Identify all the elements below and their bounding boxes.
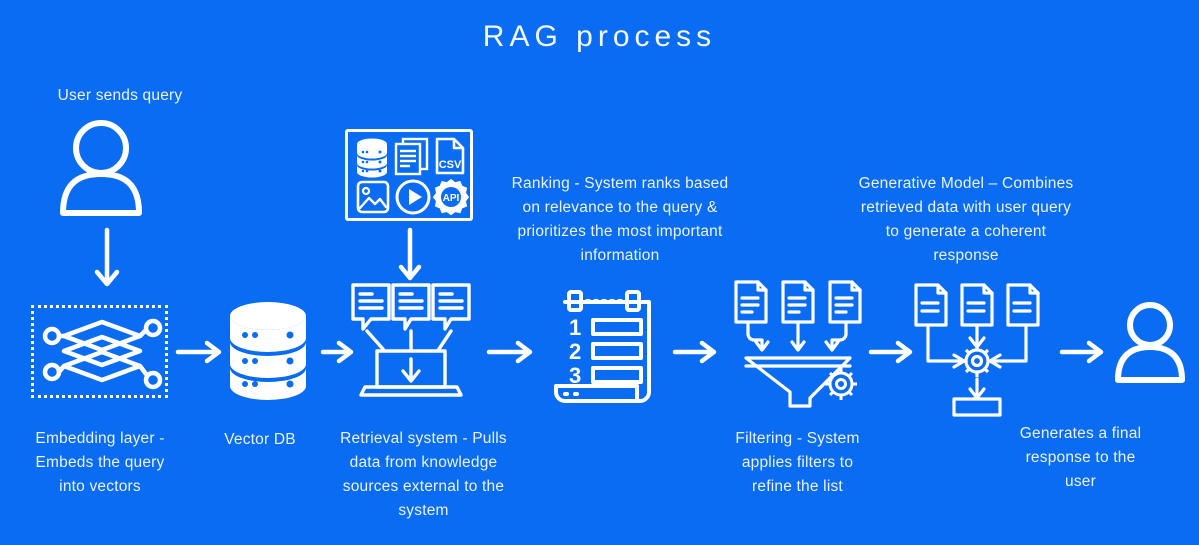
- rank-number: 3: [569, 363, 581, 388]
- api-gear-icon: API: [433, 178, 469, 216]
- caption-line: Retrieval system - Pulls: [326, 427, 521, 451]
- vector-db-caption: Vector DB: [185, 428, 335, 452]
- video-play-icon: [394, 178, 432, 216]
- documents-icon: [394, 137, 429, 175]
- caption-line: user: [993, 470, 1168, 494]
- caption-line: response to the: [993, 446, 1168, 470]
- description-line: to generate a coherent: [833, 220, 1099, 244]
- description-line: retrieved data with user query: [833, 196, 1099, 220]
- caption-line: sources external to the: [326, 475, 521, 499]
- description-line: Ranking - System ranks based: [487, 172, 753, 196]
- embedding-layer-box: [31, 305, 168, 398]
- description-line: on relevance to the query &: [487, 196, 753, 220]
- connector-arrow-sources-to-retrieval: [396, 228, 424, 284]
- filtering-caption: Filtering - System applies filters to re…: [710, 427, 885, 499]
- caption-line: Filtering - System: [710, 427, 885, 451]
- laptop-download-documents-icon: [347, 283, 475, 401]
- caption-line: refine the list: [710, 475, 885, 499]
- image-icon: [356, 180, 390, 214]
- retrieval-system-caption: Retrieval system - Pulls data from knowl…: [326, 427, 521, 523]
- database-cylinder-icon: [228, 300, 308, 402]
- csv-file-icon: CSV: [433, 137, 467, 175]
- funnel-filter-gear-icon: [728, 280, 868, 410]
- connector-arrow-down-user: [92, 228, 122, 290]
- caption-line: system: [326, 499, 521, 523]
- user-icon: [1113, 301, 1187, 383]
- caption-line: Generates a final: [993, 422, 1168, 446]
- description-line: response: [833, 244, 1099, 268]
- description-line: information: [487, 244, 753, 268]
- connector-arrow-embedding-to-vectordb: [176, 340, 224, 364]
- caption-line: Embeds the query: [0, 451, 200, 475]
- embedding-layer-caption: Embedding layer - Embeds the query into …: [0, 427, 200, 499]
- generative-model-description: Generative Model – Combines retrieved da…: [833, 172, 1099, 268]
- connector-arrow-generative-to-user: [1060, 340, 1106, 364]
- caption-line: Embedding layer -: [0, 427, 200, 451]
- api-label: API: [443, 193, 460, 204]
- description-line: Generative Model – Combines: [833, 172, 1099, 196]
- page-title: RAG process: [0, 14, 1199, 61]
- connector-arrow-ranking-to-filtering: [673, 340, 719, 364]
- rank-number: 2: [569, 339, 581, 364]
- description-line: prioritizes the most important: [487, 220, 753, 244]
- caption-line: data from knowledge: [326, 451, 521, 475]
- caption-line: into vectors: [0, 475, 200, 499]
- connector-arrow-retrieval-to-ranking: [487, 340, 535, 364]
- documents-gear-output-icon: [908, 283, 1046, 415]
- user-icon: [55, 118, 147, 216]
- final-user-caption: Generates a final response to the user: [993, 422, 1168, 494]
- csv-label: CSV: [439, 159, 462, 171]
- database-icon: [356, 138, 388, 174]
- caption-line: applies filters to: [710, 451, 885, 475]
- user-query-label: User sends query: [20, 84, 220, 108]
- ranking-description: Ranking - System ranks based on relevanc…: [487, 172, 753, 268]
- neural-network-layers-icon: [40, 314, 165, 395]
- knowledge-sources-box: CSV API: [345, 129, 473, 221]
- rank-number: 1: [569, 315, 581, 340]
- ranked-list-icon: 1 2 3: [553, 288, 661, 410]
- diagram-canvas: RAG process User sends query: [0, 0, 1199, 545]
